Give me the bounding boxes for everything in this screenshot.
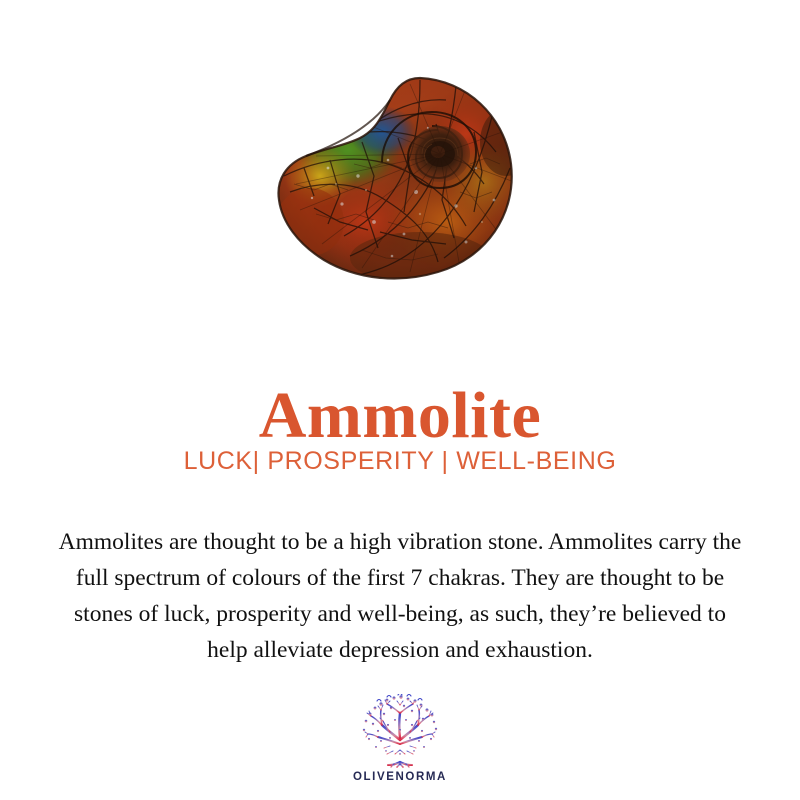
hero-image-area (0, 72, 800, 297)
ammonite-fossil-image (270, 72, 530, 287)
brand-logo: OLIVENORMA (0, 694, 800, 783)
description-paragraph: Ammolites are thought to be a high vibra… (55, 524, 745, 668)
ammolite-info-card: Ammolite LUCK| PROSPERITY | WELL-BEING A… (0, 0, 800, 800)
keyword-line: LUCK| PROSPERITY | WELL-BEING (0, 446, 800, 476)
brand-name: OLIVENORMA (0, 771, 800, 783)
page-title: Ammolite (0, 380, 800, 452)
tree-of-life-icon (357, 694, 443, 770)
